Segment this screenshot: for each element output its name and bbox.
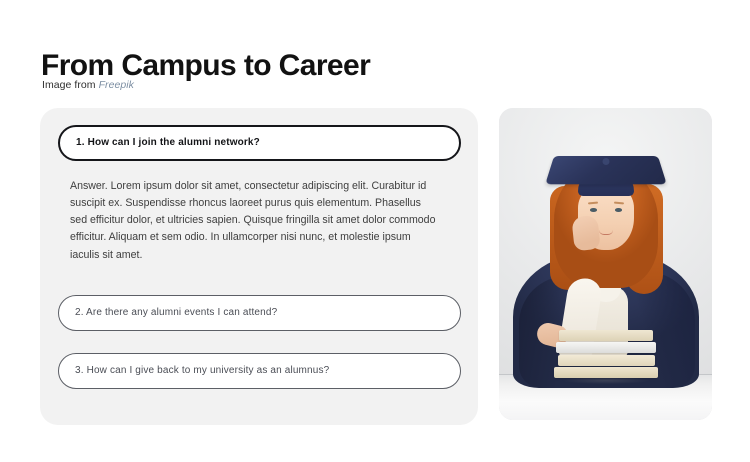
accordion-item-2: 2. Are there any alumni events I can att… bbox=[58, 295, 460, 331]
accordion-question-3: 3. How can I give back to my university … bbox=[75, 366, 329, 376]
accordion-question-1: 1. How can I join the alumni network? bbox=[76, 138, 260, 148]
accordion-item-3: 3. How can I give back to my university … bbox=[58, 353, 460, 389]
book-stack-shadow bbox=[547, 377, 665, 384]
eye-left bbox=[590, 208, 597, 212]
accordion-header-3[interactable]: 3. How can I give back to my university … bbox=[58, 353, 461, 389]
eye-right bbox=[615, 208, 622, 212]
book-4 bbox=[554, 367, 658, 378]
eyebrow-left bbox=[587, 202, 597, 205]
book-stack bbox=[554, 328, 658, 378]
book-3 bbox=[558, 355, 655, 366]
content-row: 1. How can I join the alumni network? An… bbox=[40, 108, 712, 426]
book-1 bbox=[559, 330, 653, 341]
accordion-header-2[interactable]: 2. Are there any alumni events I can att… bbox=[58, 295, 461, 331]
accordion-answer-1: Answer. Lorem ipsum dolor sit amet, cons… bbox=[70, 178, 440, 264]
faq-panel: 1. How can I join the alumni network? An… bbox=[40, 108, 478, 425]
accordion-gap-2 bbox=[58, 331, 460, 353]
freepik-link[interactable]: Freepik bbox=[99, 79, 134, 91]
book-2 bbox=[556, 342, 656, 353]
graduate-photo bbox=[499, 108, 712, 420]
accordion-header-1[interactable]: 1. How can I join the alumni network? bbox=[58, 125, 461, 161]
accordion-item-1: 1. How can I join the alumni network? An… bbox=[58, 125, 460, 264]
accordion-gap-1 bbox=[58, 264, 460, 295]
page-title: From Campus to Career bbox=[41, 49, 370, 82]
hand-on-cheek bbox=[571, 215, 600, 252]
graduate-photo-card bbox=[499, 108, 712, 420]
image-credit-prefix: Image from bbox=[42, 79, 99, 91]
eyebrow-right bbox=[613, 202, 623, 205]
page-root: From Campus to Career Image from Freepik… bbox=[0, 0, 750, 462]
mortarboard-button bbox=[602, 158, 609, 165]
mouth bbox=[599, 230, 613, 235]
image-credit: Image from Freepik bbox=[42, 79, 134, 91]
accordion-body-1: Answer. Lorem ipsum dolor sit amet, cons… bbox=[58, 161, 454, 264]
accordion-question-2: 2. Are there any alumni events I can att… bbox=[75, 308, 277, 318]
